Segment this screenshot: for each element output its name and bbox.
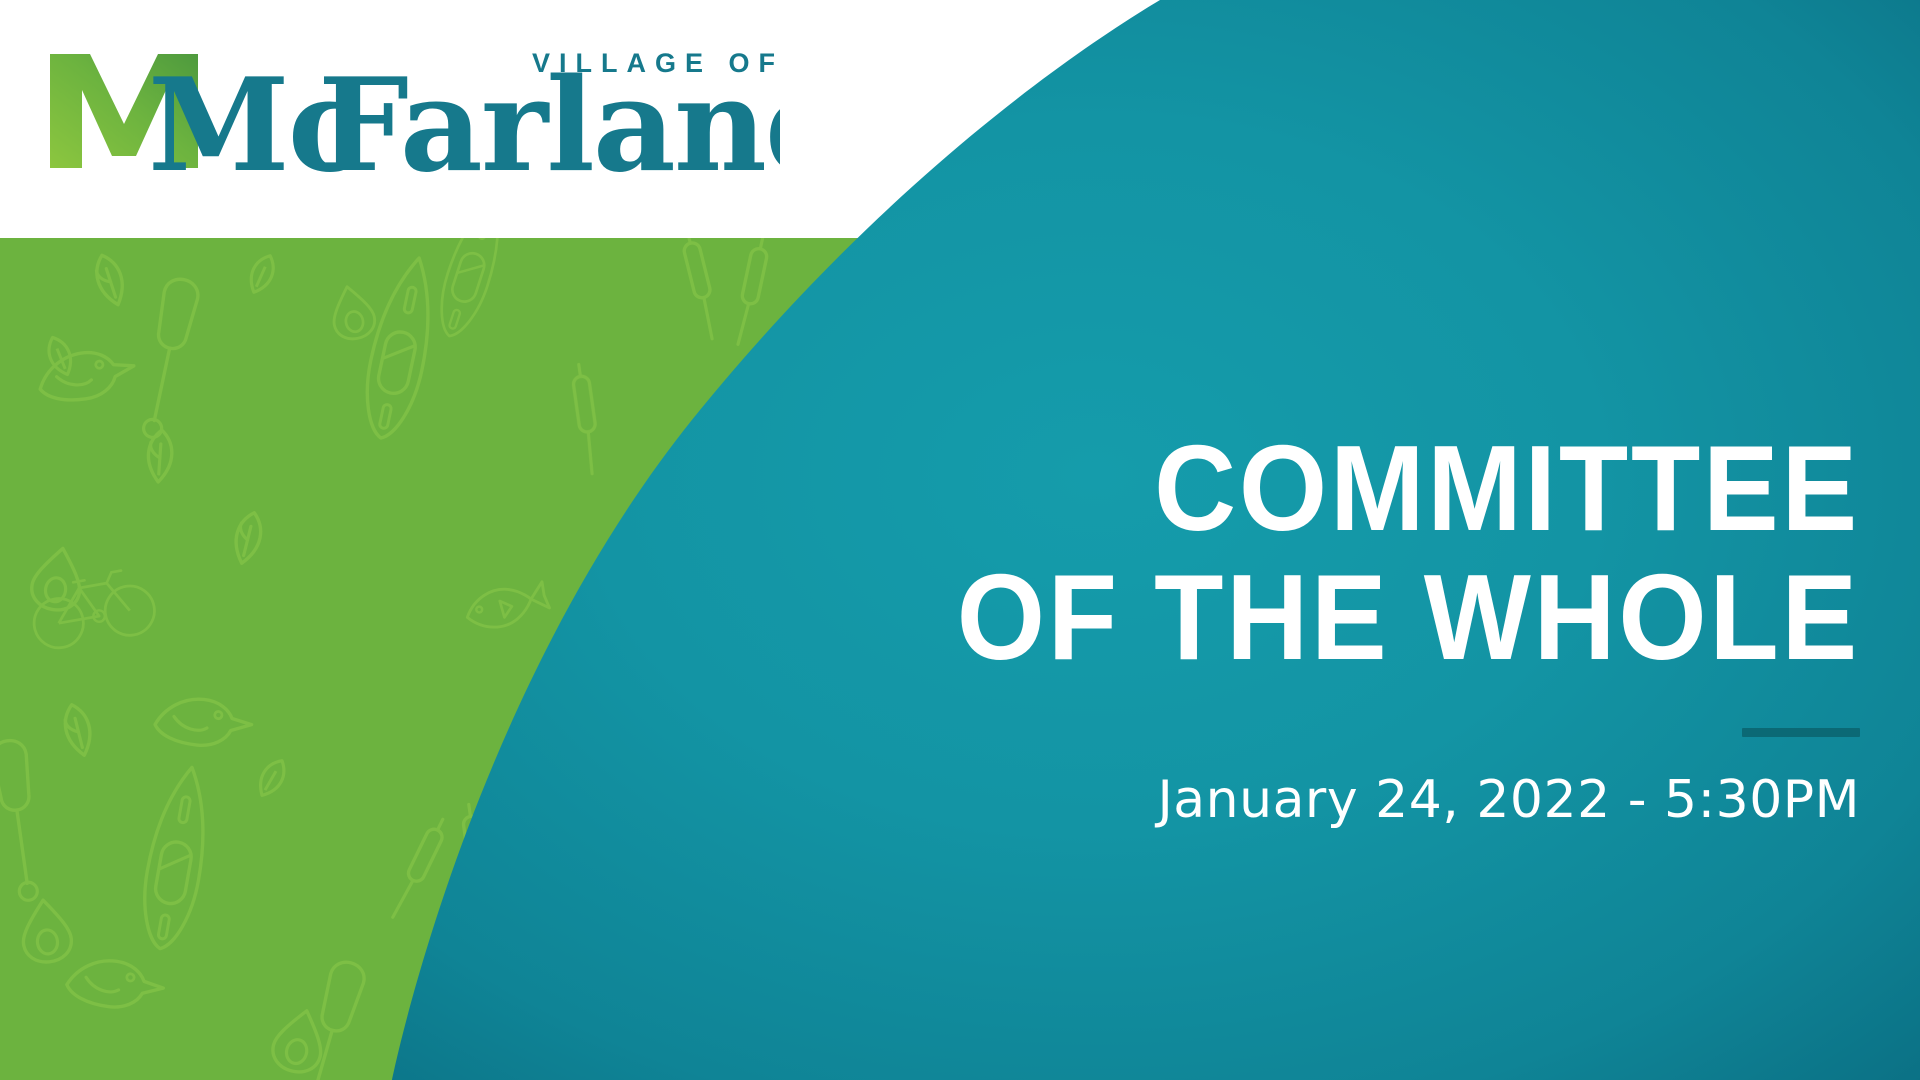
village-logo[interactable]: Mc Farland VILLAGE OF	[40, 28, 780, 188]
svg-text:VILLAGE OF: VILLAGE OF	[532, 48, 780, 78]
meeting-date-time: January 24, 2022 - 5:30PM	[600, 770, 1860, 830]
meeting-title-line-1: COMMITTEE	[688, 430, 1860, 547]
meeting-title-line-2: OF THE WHOLE	[688, 559, 1860, 676]
title-underline-rule	[1742, 728, 1860, 737]
meeting-announcement-banner: Mc Farland VILLAGE OF COMMITTEE OF THE W…	[0, 0, 1920, 1080]
meeting-content: COMMITTEE OF THE WHOLE January 24, 2022 …	[600, 430, 1860, 830]
logo-kicker-text: VILLAGE OF	[532, 48, 780, 78]
